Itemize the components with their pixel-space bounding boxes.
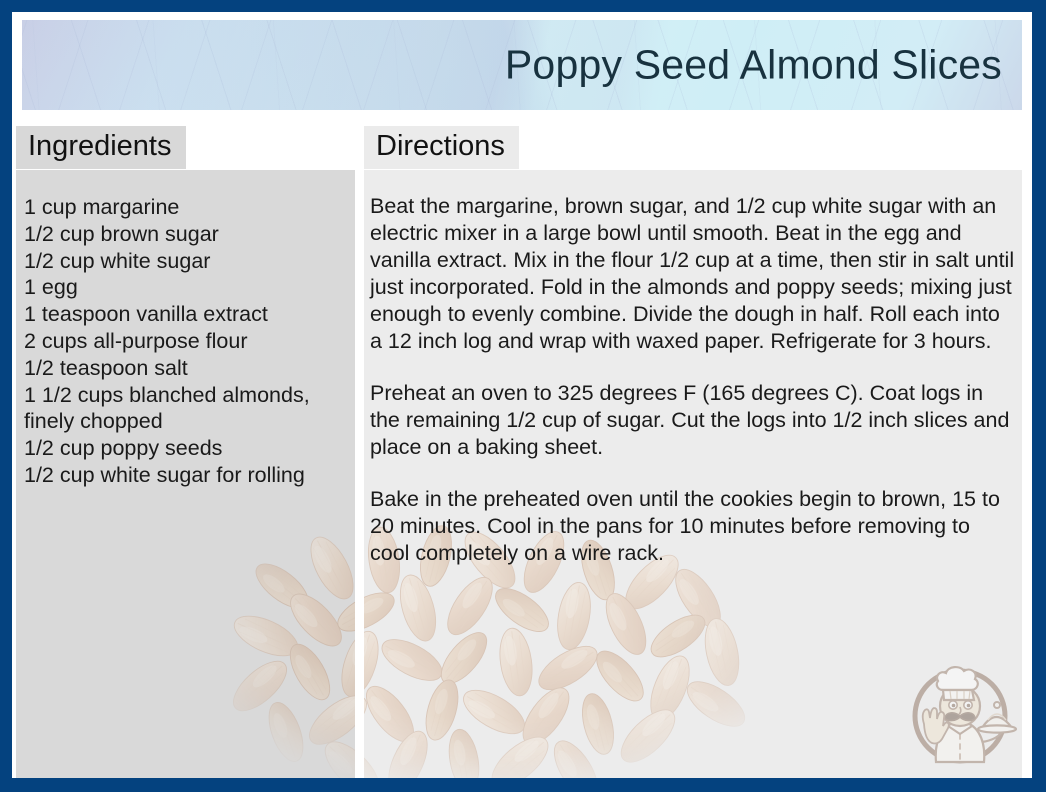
direction-paragraph: Bake in the preheated oven until the coo… <box>370 486 1015 567</box>
ingredient-item: 1/2 cup white sugar for rolling <box>24 462 344 489</box>
ingredient-item: 1/2 teaspoon salt <box>24 355 344 382</box>
border-right <box>1032 0 1046 792</box>
page-title: Poppy Seed Almond Slices <box>505 42 1002 89</box>
ingredient-item: 1 teaspoon vanilla extract <box>24 301 344 328</box>
directions-text: Beat the margarine, brown sugar, and 1/2… <box>370 193 1018 567</box>
ingredient-item: 2 cups all-purpose flour <box>24 328 344 355</box>
ingredient-item: 1/2 cup poppy seeds <box>24 435 344 462</box>
section-heading-ingredients: Ingredients <box>16 126 186 169</box>
ingredient-item: 1/2 cup white sugar <box>24 248 344 275</box>
ingredient-item: 1/2 cup brown sugar <box>24 221 344 248</box>
border-bottom <box>0 778 1046 792</box>
title-banner: Poppy Seed Almond Slices <box>22 20 1022 110</box>
section-heading-directions: Directions <box>364 126 519 169</box>
direction-paragraph: Beat the margarine, brown sugar, and 1/2… <box>370 193 1015 355</box>
chef-mascot-logo <box>898 650 1022 774</box>
border-top <box>0 0 1046 12</box>
ingredient-item: 1 cup margarine <box>24 194 344 221</box>
panel-gutter <box>355 170 364 782</box>
ingredient-item: 1 egg <box>24 274 344 301</box>
border-left <box>0 0 12 792</box>
ingredient-item: 1 1/2 cups blanched almonds, finely chop… <box>24 382 344 436</box>
ingredients-list: 1 cup margarine 1/2 cup brown sugar 1/2 … <box>24 194 344 489</box>
direction-paragraph: Preheat an oven to 325 degrees F (165 de… <box>370 380 1015 461</box>
recipe-card-page: Poppy Seed Almond Slices <box>0 0 1046 792</box>
